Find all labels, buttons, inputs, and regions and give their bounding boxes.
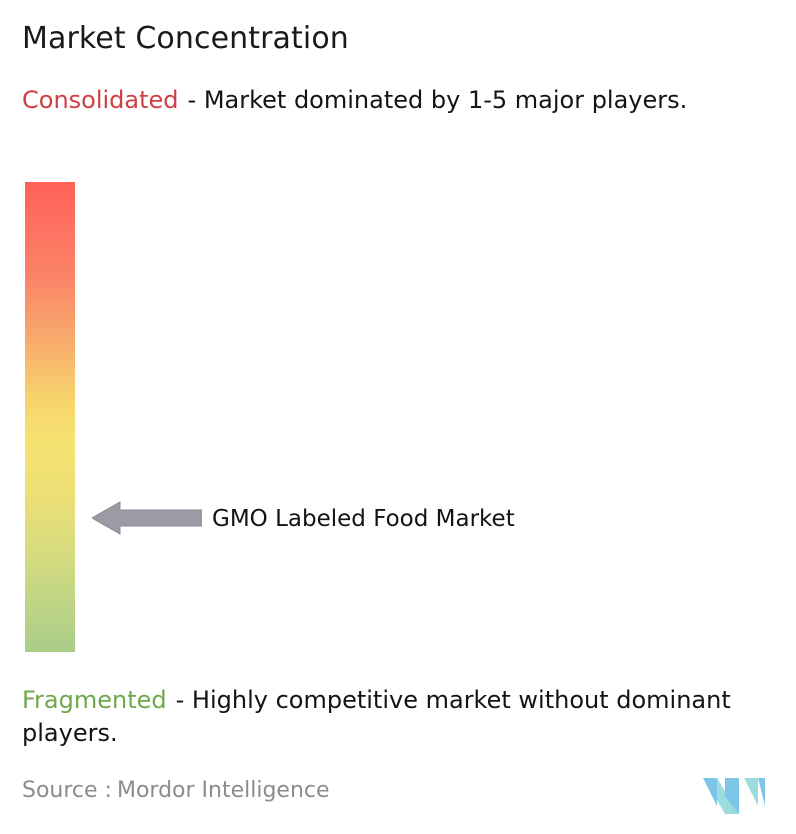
source-attribution: Source :Mordor Intelligence [22, 776, 330, 806]
legend-note-consolidated: Consolidated- Market dominated by 1-5 ma… [22, 84, 782, 117]
page-title: Market Concentration [22, 20, 349, 58]
arrow-left-icon [92, 499, 202, 537]
source-label: Source : [22, 778, 112, 803]
legend-description-consolidated: - Market dominated by 1-5 major players. [188, 86, 688, 114]
mordor-intelligence-logo [703, 776, 775, 816]
source-name: Mordor Intelligence [117, 778, 330, 803]
legend-term-consolidated: Consolidated [22, 86, 179, 114]
legend-term-fragmented: Fragmented [22, 686, 167, 714]
market-marker-label: GMO Labeled Food Market [212, 504, 515, 534]
market-marker: GMO Labeled Food Market [92, 498, 515, 538]
market-concentration-infographic: Market Concentration Consolidated- Marke… [0, 0, 796, 834]
concentration-gradient-bar [25, 182, 75, 652]
legend-note-fragmented: Fragmented- Highly competitive market wi… [22, 684, 788, 750]
concentration-scale [25, 182, 75, 652]
